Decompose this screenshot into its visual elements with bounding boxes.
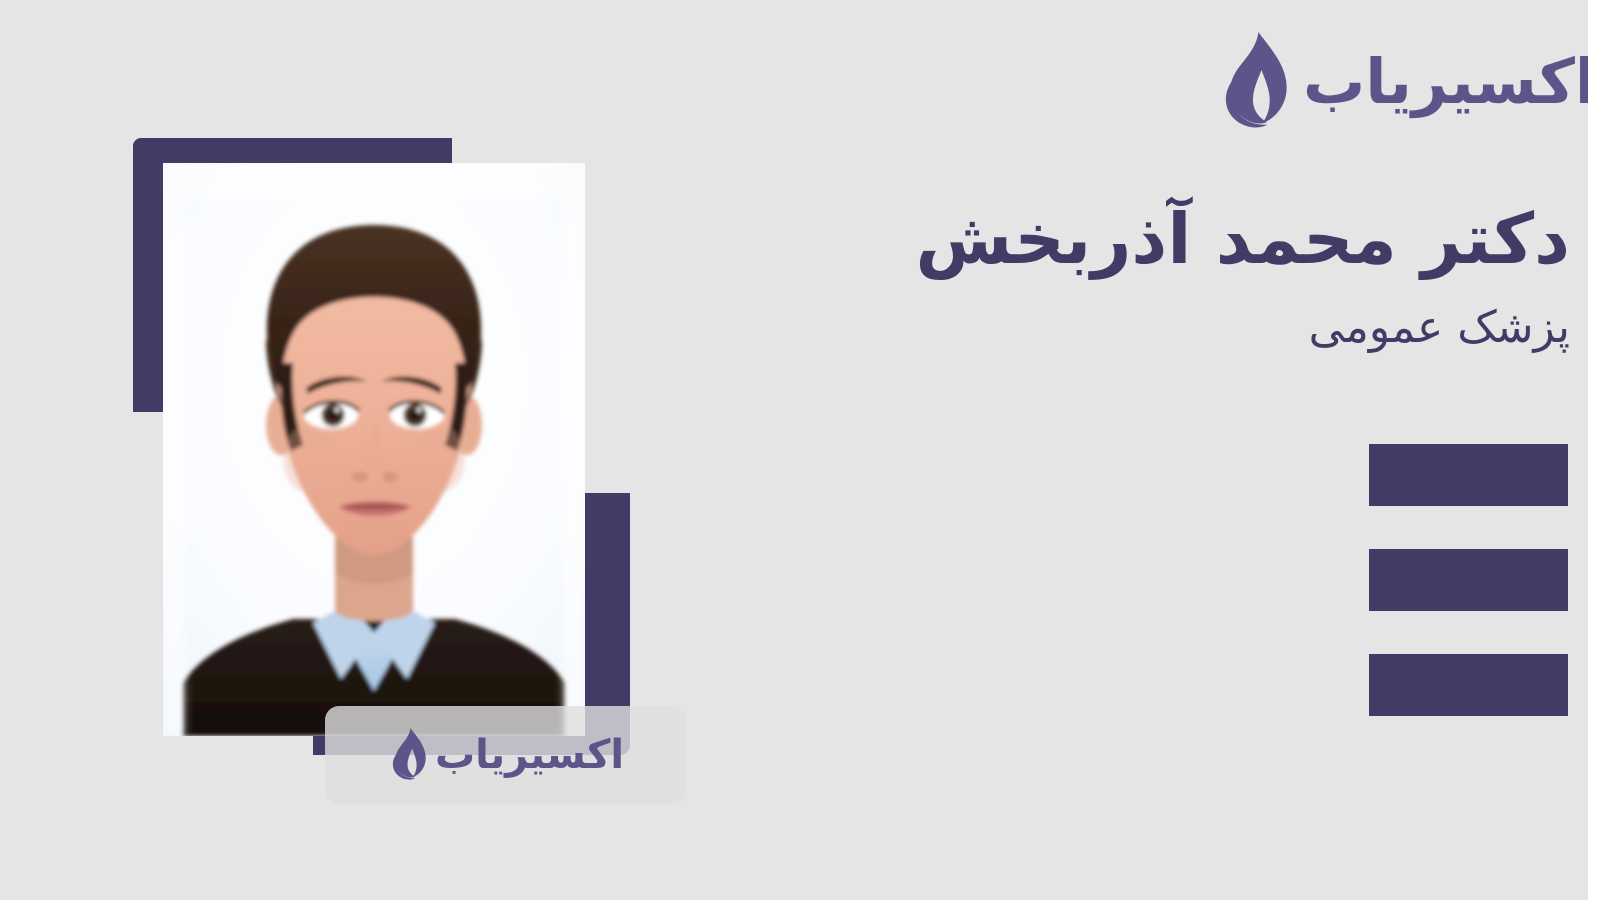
photo-composition: اکسیریاب (133, 138, 630, 755)
flame-icon (1215, 30, 1289, 134)
profile-card-canvas: اکسیریاب دکتر محمد آذربخش پزشک عمومی (0, 0, 1600, 900)
right-edge-strip (1588, 0, 1600, 900)
profile-headline: دکتر محمد آذربخش پزشک عمومی (700, 196, 1570, 357)
brand-wordmark: اکسیریاب (1303, 51, 1596, 113)
portrait-photo (163, 163, 585, 736)
decorative-bar-2 (1369, 549, 1568, 611)
doctor-specialty: پزشک عمومی (700, 298, 1570, 357)
decorative-bar-3 (1369, 654, 1568, 716)
doctor-name: دکتر محمد آذربخش (700, 196, 1570, 284)
brand-lockup[interactable]: اکسیریاب (1215, 26, 1570, 138)
decorative-bar-1 (1369, 444, 1568, 506)
